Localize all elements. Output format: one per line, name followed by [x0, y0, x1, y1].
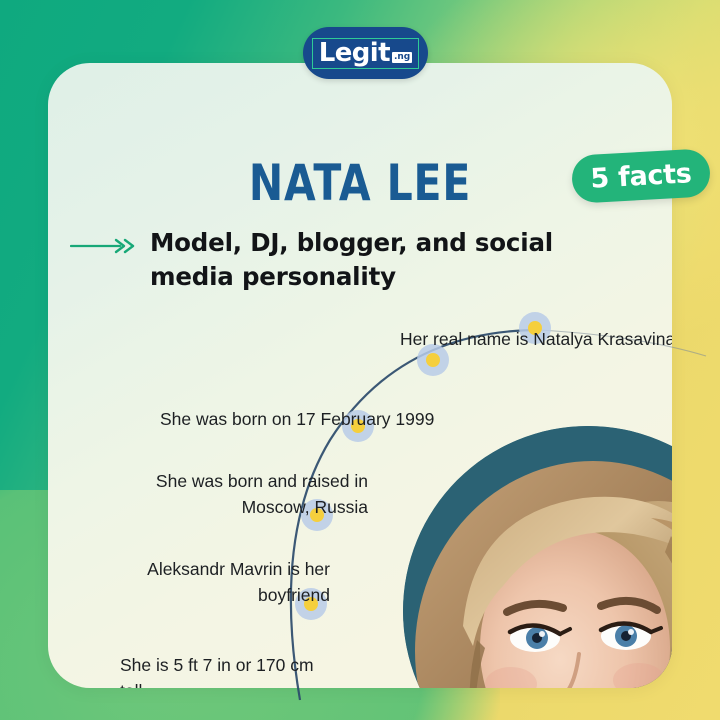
brand-logo[interactable]: Legit .ng [303, 27, 428, 79]
brand-logo-frame: Legit .ng [312, 38, 419, 69]
content-card: NATA LEE Model, DJ, blogger, and social … [48, 63, 672, 688]
brand-logo-tld: .ng [392, 52, 412, 63]
fact-item: Her real name is Natalya Krasavina [400, 326, 672, 352]
fact-item: Aleksandr Mavrin is her boyfriend [140, 556, 330, 608]
status-badge-label: 5 facts [590, 158, 693, 195]
fact-item: She was born and raised in Moscow, Russi… [148, 468, 368, 520]
fact-item: She was born on 17 February 1999 [160, 406, 440, 432]
avatar [403, 426, 672, 688]
page-title: NATA LEE [104, 156, 616, 210]
subtitle-row: Model, DJ, blogger, and social media per… [70, 226, 570, 294]
status-badge: 5 facts [571, 148, 711, 204]
infographic-poster: NATA LEE Model, DJ, blogger, and social … [0, 0, 720, 720]
brand-logo-word: Legit [319, 40, 390, 66]
portrait-photo [403, 426, 672, 688]
fact-item: She is 5 ft 7 in or 170 cm tall [120, 652, 336, 688]
double-chevron-right-arrow-icon [70, 238, 138, 259]
subtitle-text: Model, DJ, blogger, and social media per… [150, 226, 570, 294]
